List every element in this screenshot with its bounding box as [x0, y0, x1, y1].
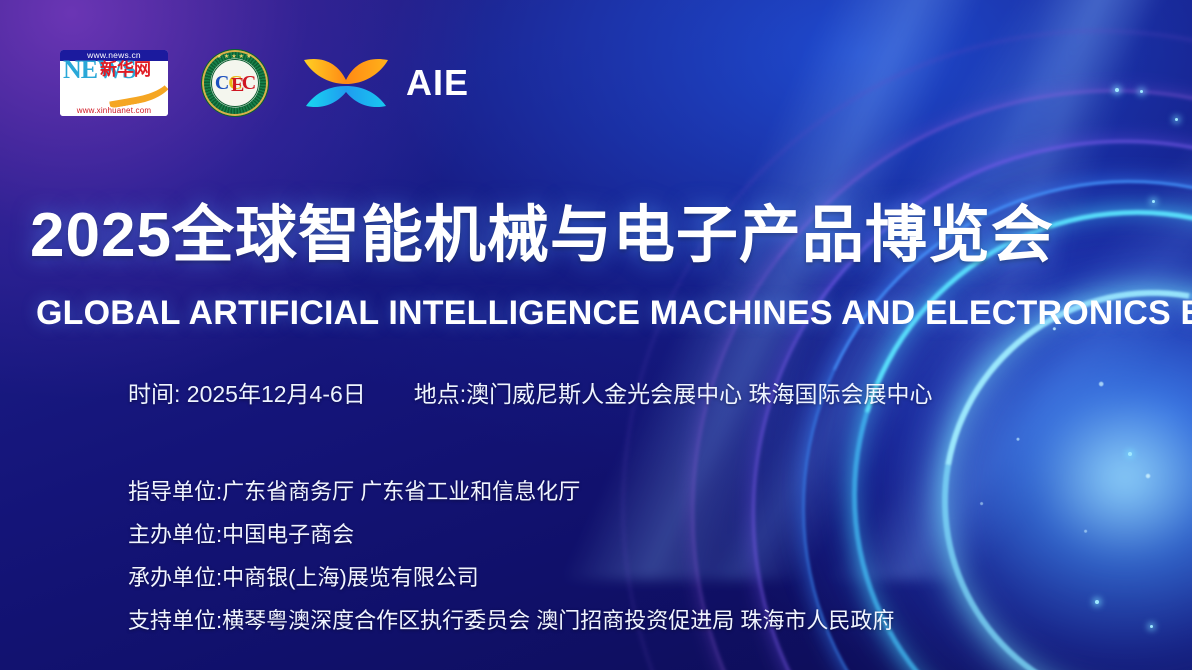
organizer-value-organizer: 中商银(上海)展览有限公司: [222, 565, 479, 590]
cecc-inner-disc: CCC E: [211, 59, 259, 107]
organizer-line-guidance: 指导单位:广东省商务厅 广东省工业和信息化厅: [128, 470, 894, 513]
page-title-chinese: 2025全球智能机械与电子产品博览会: [30, 198, 1180, 274]
organizer-line-host: 主办单位:中国电子商会: [128, 513, 894, 556]
expo-banner: www.news.cn NEWS 新华网 www.xinhuanet.com ★…: [0, 0, 1192, 670]
organizer-value-support: 横琴粤澳深度合作区执行委员会 澳门招商投资促进局 珠海市人民政府: [222, 608, 894, 633]
sparkle-dot: [1150, 625, 1153, 628]
xinhua-mark: NEWS 新华网: [60, 61, 168, 105]
aie-wordmark: AIE: [406, 62, 469, 104]
cecc-letter-e: E: [231, 74, 244, 97]
sparkle-dot: [1140, 90, 1143, 93]
organizer-value-host: 中国电子商会: [222, 522, 354, 547]
aie-mark-icon: [302, 54, 390, 112]
organizer-label-organizer: 承办单位:: [128, 565, 222, 590]
cecc-logo[interactable]: ★★★★★ CCC E: [202, 50, 268, 116]
organizer-label-support: 支持单位:: [128, 608, 222, 633]
organizer-block: 指导单位:广东省商务厅 广东省工业和信息化厅 主办单位:中国电子商会 承办单位:…: [128, 470, 894, 642]
event-time: 时间: 2025年12月4-6日: [128, 378, 366, 410]
organizer-value-guidance: 广东省商务厅 广东省工业和信息化厅: [222, 479, 580, 504]
organizer-label-host: 主办单位:: [128, 522, 222, 547]
event-meta-row: 时间: 2025年12月4-6日 地点:澳门威尼斯人金光会展中心 珠海国际会展中…: [128, 378, 933, 410]
organizer-line-support: 支持单位:横琴粤澳深度合作区执行委员会 澳门招商投资促进局 珠海市人民政府: [128, 599, 894, 642]
xinhuanet-logo[interactable]: www.news.cn NEWS 新华网 www.xinhuanet.com: [60, 50, 168, 116]
aie-logo[interactable]: AIE: [302, 54, 469, 112]
page-title-english: GLOBAL ARTIFICIAL INTELLIGENCE MACHINES …: [36, 292, 1186, 334]
organizer-label-guidance: 指导单位:: [128, 479, 222, 504]
sparkle-dot: [1175, 118, 1178, 121]
event-venue: 地点:澳门威尼斯人金光会展中心 珠海国际会展中心: [414, 378, 933, 410]
sparkle-dot: [1095, 600, 1099, 604]
sparkle-dot: [1115, 88, 1119, 92]
sparkle-dot: [1128, 452, 1132, 456]
organizer-line-organizer: 承办单位:中商银(上海)展览有限公司: [128, 556, 894, 599]
logo-bar: www.news.cn NEWS 新华网 www.xinhuanet.com ★…: [60, 44, 469, 122]
